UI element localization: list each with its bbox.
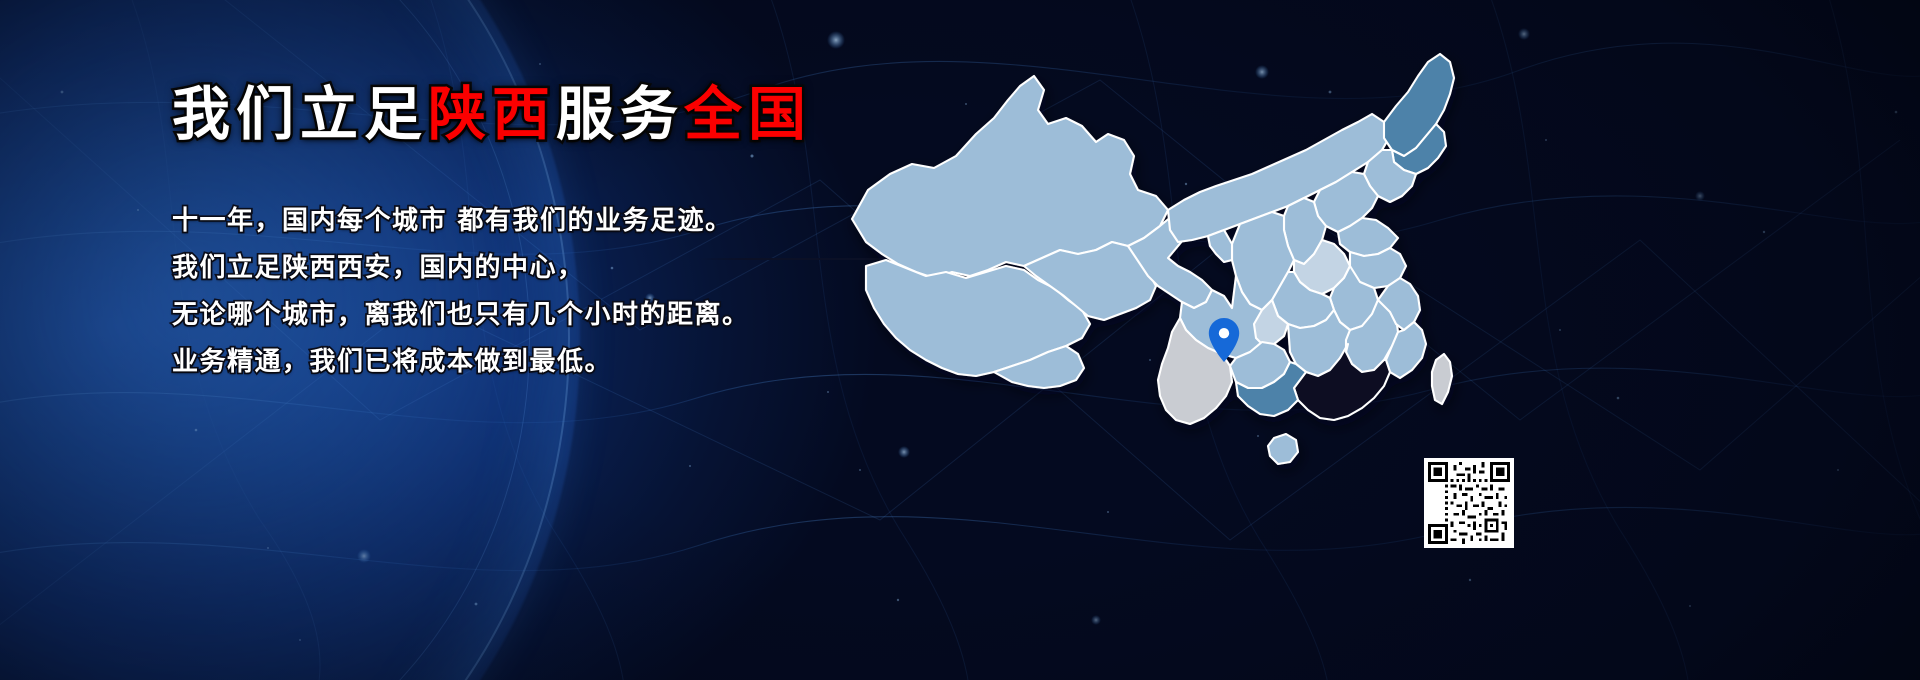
province-taiwan (1432, 354, 1452, 404)
headline-segment-2: 服务 (556, 80, 684, 148)
body-line-3: 无论哪个城市，离我们也只有几个小时的距离。 (172, 292, 872, 339)
body-line-1: 十一年，国内每个城市 都有我们的业务足迹。 (172, 198, 872, 245)
province-ningxia (1208, 230, 1232, 262)
page-title: 我们立足陕西服务全国 (172, 78, 872, 150)
headline-segment-0: 我们立足 (172, 80, 428, 148)
promo-banner: 我们立足陕西服务全国 十一年，国内每个城市 都有我们的业务足迹。 我们立足陕西西… (0, 0, 1920, 680)
body-copy-block: 十一年，国内每个城市 都有我们的业务足迹。 我们立足陕西西安，国内的中心， 无论… (172, 198, 872, 386)
headline-segment-3: 全国 (684, 80, 812, 148)
headline-block: 我们立足陕西服务全国 (172, 78, 872, 150)
headline-segment-1: 陕西 (428, 80, 556, 148)
province-hainan (1268, 434, 1298, 464)
body-line-2: 我们立足陕西西安，国内的中心， (172, 245, 872, 292)
china-map[interactable] (838, 14, 1498, 580)
body-line-4: 业务精通，我们已将成本做到最低。 (172, 339, 872, 386)
qr-code[interactable] (1424, 458, 1514, 548)
